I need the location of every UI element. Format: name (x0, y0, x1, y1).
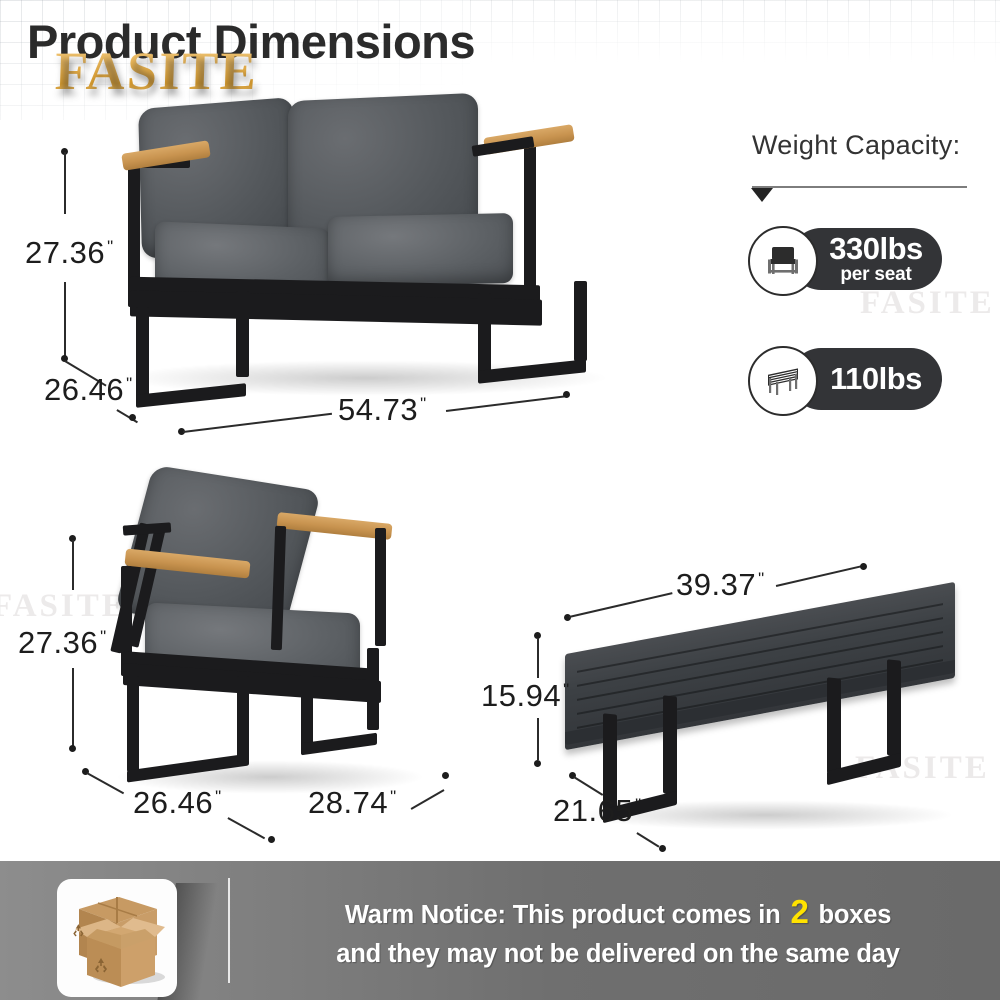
product-dimensions-infographic: Product Dimensions FASITE FASITE FASITE … (0, 0, 1000, 1000)
triangle-marker-icon (751, 188, 773, 202)
table-width-label: 39.37" (676, 567, 765, 603)
dim-line (72, 540, 74, 590)
dim-endpoint (860, 563, 867, 570)
dim-value: 27.36 (18, 625, 98, 660)
notice-line-2: and they may not be delivered on the sam… (248, 936, 988, 972)
dim-unit: " (100, 627, 107, 646)
dim-value: 28.74 (308, 785, 388, 820)
dim-unit: " (758, 569, 765, 588)
dim-unit: " (215, 787, 222, 806)
table-icon (748, 346, 818, 416)
dim-line (446, 395, 567, 411)
dim-endpoint (268, 836, 275, 843)
dim-unit: " (107, 237, 114, 256)
dim-line (64, 152, 66, 214)
weight-badge-seat: 330lbs per seat (748, 228, 944, 290)
notice-line-1: Warm Notice: This product comes in 2 box… (248, 889, 988, 936)
chair-icon (748, 226, 818, 296)
armchair-height-label: 27.36" (18, 625, 107, 661)
brand-logo-watermark: FASITE (54, 40, 259, 102)
dim-unit: " (390, 787, 397, 806)
background-watermark: FASITE (860, 285, 995, 322)
notice-box-count: 2 (790, 893, 808, 930)
dim-value: 26.46 (133, 785, 213, 820)
cardboard-boxes-icon (57, 879, 177, 997)
dim-line (637, 832, 660, 847)
dim-value: 27.36 (25, 235, 105, 270)
dim-unit: " (126, 374, 133, 393)
dim-line (537, 638, 539, 678)
notice-line1-after: boxes (818, 901, 891, 929)
weight-badge-table: 110lbs (748, 348, 944, 410)
loveseat-depth-label: 26.46" (44, 372, 133, 408)
loveseat-height-label: 27.36" (25, 235, 114, 271)
table-height-label: 15.94" (481, 678, 570, 714)
dim-endpoint (442, 772, 449, 779)
dim-endpoint (563, 391, 570, 398)
armchair-width-label: 28.74" (308, 785, 397, 821)
notice-divider (228, 878, 230, 983)
table-depth-label: 21.65" (553, 793, 642, 829)
dim-unit: " (635, 795, 642, 814)
dim-line (64, 282, 66, 356)
dim-unit: " (563, 680, 570, 699)
dim-value: 54.73 (338, 392, 418, 427)
weight-badge-value: 110lbs (830, 363, 922, 395)
dim-unit: " (420, 394, 427, 413)
dim-line (776, 565, 862, 586)
warm-notice-banner: Warm Notice: This product comes in 2 box… (0, 861, 1000, 1000)
weight-badge-note: per seat (840, 265, 911, 285)
dim-line (72, 668, 74, 746)
dim-value: 26.46 (44, 372, 124, 407)
notice-line1-before: Warm Notice: This product comes in (345, 901, 781, 929)
weight-badge-value: 330lbs (829, 233, 923, 265)
dim-line (228, 817, 266, 839)
dim-value: 15.94 (481, 678, 561, 713)
weight-capacity-title: Weight Capacity: (752, 130, 960, 161)
weight-capacity-rule (752, 186, 967, 188)
notice-text: Warm Notice: This product comes in 2 box… (248, 889, 988, 972)
dim-line (183, 413, 332, 433)
dim-endpoint (69, 745, 76, 752)
armchair-illustration (105, 470, 435, 800)
dim-line (537, 718, 539, 760)
dim-value: 39.37 (676, 567, 756, 602)
dim-endpoint (129, 414, 136, 421)
dim-endpoint (534, 760, 541, 767)
armchair-depth-label: 26.46" (133, 785, 222, 821)
graph-paper-background-right (470, 0, 1000, 70)
loveseat-width-label: 54.73" (338, 392, 427, 428)
dim-endpoint (659, 845, 666, 852)
loveseat-illustration (100, 95, 620, 395)
dim-value: 21.65 (553, 793, 633, 828)
